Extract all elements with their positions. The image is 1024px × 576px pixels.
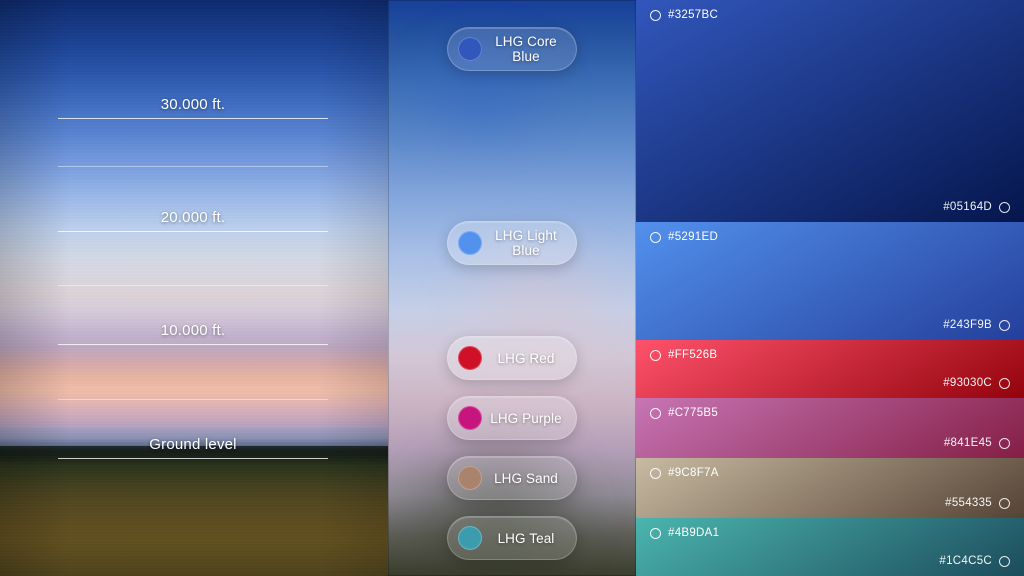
swatch-purple[interactable]: #C775B5#841E45: [636, 398, 1024, 458]
altitude-rule: [58, 344, 328, 345]
swatch-light-hex-label: #4B9DA1: [650, 527, 719, 539]
color-pill-lhg-light-blue[interactable]: LHG Light Blue: [447, 221, 577, 265]
altitude-label: Ground level: [58, 436, 328, 453]
color-pill-label: LHG Sand: [482, 471, 576, 486]
altitude-rule: [58, 231, 328, 232]
hex-code-text: #FF526B: [668, 349, 717, 361]
circle-marker-icon: [999, 498, 1010, 509]
swatch-sand[interactable]: #9C8F7A#554335: [636, 458, 1024, 518]
hex-code-text: #243F9B: [943, 319, 992, 331]
circle-marker-icon: [999, 320, 1010, 331]
swatch-light-hex-label: #C775B5: [650, 407, 718, 419]
swatch-core-blue[interactable]: #3257BC#05164D: [636, 0, 1024, 222]
swatch-dark-hex-label: #841E45: [944, 437, 1010, 449]
swatch-dark-hex-label: #554335: [945, 497, 1010, 509]
color-swatch-dot-icon: [458, 526, 482, 550]
hex-code-text: #C775B5: [668, 407, 718, 419]
swatch-teal[interactable]: #4B9DA1#1C4C5C: [636, 518, 1024, 576]
brand-color-board: 30.000 ft.20.000 ft.10.000 ft.Ground lev…: [0, 0, 1024, 576]
swatch-light-hex-label: #9C8F7A: [650, 467, 719, 479]
color-pill-label: LHG Red: [482, 351, 576, 366]
swatch-red[interactable]: #FF526B#93030C: [636, 340, 1024, 398]
altitude-marker: 30.000 ft.: [58, 96, 328, 119]
altitude-rule: [58, 458, 328, 459]
circle-marker-icon: [999, 202, 1010, 213]
color-swatch-dot-icon: [458, 406, 482, 430]
swatch-light-hex-label: #3257BC: [650, 9, 718, 21]
hex-code-text: #9C8F7A: [668, 467, 719, 479]
hex-code-text: #1C4C5C: [939, 555, 992, 567]
color-pill-label: LHG Core Blue: [482, 34, 576, 64]
swatch-light-hex-label: #5291ED: [650, 231, 718, 243]
hex-code-text: #05164D: [943, 201, 992, 213]
altitude-rule: [58, 285, 328, 286]
color-pill-label: LHG Teal: [482, 531, 576, 546]
circle-marker-icon: [650, 408, 661, 419]
swatch-light-blue[interactable]: #5291ED#243F9B: [636, 222, 1024, 340]
color-pill-lhg-teal[interactable]: LHG Teal: [447, 516, 577, 560]
circle-marker-icon: [650, 350, 661, 361]
color-swatch-stack: #3257BC#05164D#5291ED#243F9B#FF526B#9303…: [636, 0, 1024, 576]
hex-code-text: #841E45: [944, 437, 992, 449]
altitude-rule: [58, 166, 328, 167]
color-pill-lhg-red[interactable]: LHG Red: [447, 336, 577, 380]
hex-code-text: #5291ED: [668, 231, 718, 243]
hex-code-text: #4B9DA1: [668, 527, 719, 539]
altitude-marker: Ground level: [58, 436, 328, 459]
color-swatch-dot-icon: [458, 346, 482, 370]
hex-code-text: #554335: [945, 497, 992, 509]
altitude-marker: 10.000 ft.: [58, 322, 328, 345]
color-swatch-dot-icon: [458, 37, 482, 61]
altitude-marker: 20.000 ft.: [58, 209, 328, 232]
swatch-dark-hex-label: #93030C: [943, 377, 1010, 389]
circle-marker-icon: [999, 438, 1010, 449]
circle-marker-icon: [650, 10, 661, 21]
altitude-label: 10.000 ft.: [58, 322, 328, 339]
altitude-sky-panel: 30.000 ft.20.000 ft.10.000 ft.Ground lev…: [0, 0, 388, 576]
color-pill-lhg-core-blue[interactable]: LHG Core Blue: [447, 27, 577, 71]
color-pill-label: LHG Light Blue: [482, 228, 576, 258]
hex-code-text: #3257BC: [668, 9, 718, 21]
color-pill-label: LHG Purple: [482, 411, 576, 426]
swatch-light-hex-label: #FF526B: [650, 349, 717, 361]
altitude-rule: [58, 118, 328, 119]
altitude-gridline: [58, 399, 328, 400]
swatch-dark-hex-label: #05164D: [943, 201, 1010, 213]
color-swatch-dot-icon: [458, 466, 482, 490]
altitude-label: 30.000 ft.: [58, 96, 328, 113]
color-pill-lhg-sand[interactable]: LHG Sand: [447, 456, 577, 500]
altitude-gridline: [58, 166, 328, 167]
circle-marker-icon: [999, 556, 1010, 567]
altitude-gridline: [58, 285, 328, 286]
altitude-gauge: 30.000 ft.20.000 ft.10.000 ft.Ground lev…: [58, 0, 328, 576]
circle-marker-icon: [650, 528, 661, 539]
circle-marker-icon: [999, 378, 1010, 389]
color-pill-lhg-purple[interactable]: LHG Purple: [447, 396, 577, 440]
circle-marker-icon: [650, 468, 661, 479]
color-swatch-dot-icon: [458, 231, 482, 255]
circle-marker-icon: [650, 232, 661, 243]
altitude-rule: [58, 399, 328, 400]
hex-code-text: #93030C: [943, 377, 992, 389]
swatch-dark-hex-label: #1C4C5C: [939, 555, 1010, 567]
swatch-dark-hex-label: #243F9B: [943, 319, 1010, 331]
altitude-label: 20.000 ft.: [58, 209, 328, 226]
